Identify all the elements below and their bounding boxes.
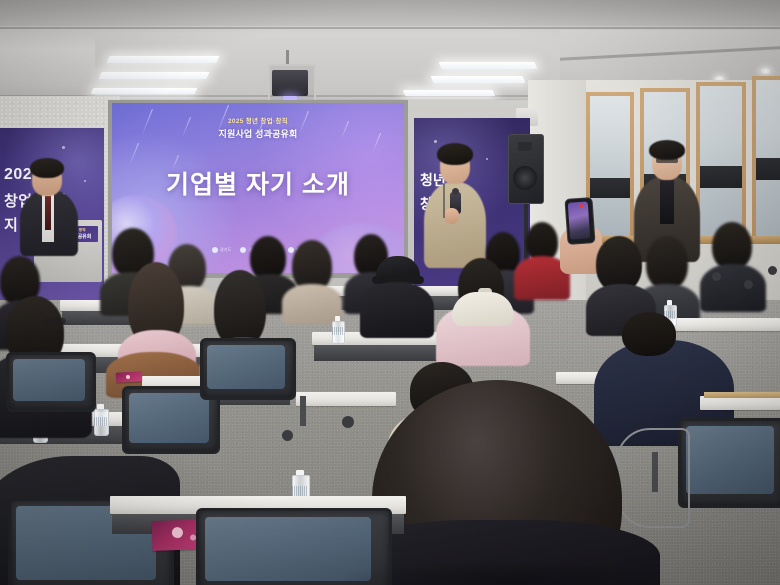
audience-head bbox=[646, 236, 688, 290]
table bbox=[296, 392, 396, 406]
mic-presenter-hand bbox=[444, 208, 459, 224]
ceiling-upper-band bbox=[0, 0, 780, 26]
slide-logo: 경기도 bbox=[212, 247, 231, 253]
puffer-hood bbox=[452, 292, 514, 326]
standing-attendee-inner-shirt bbox=[660, 180, 674, 224]
window-frame bbox=[696, 82, 746, 244]
chair-caster bbox=[744, 280, 753, 289]
bottle-label bbox=[332, 327, 343, 335]
logo-mark-icon bbox=[240, 247, 246, 253]
chair-back bbox=[678, 418, 780, 508]
audience-body bbox=[700, 264, 766, 312]
audience-head bbox=[622, 312, 676, 356]
chair-caster bbox=[342, 416, 354, 428]
chair-post bbox=[652, 452, 658, 492]
smartphone bbox=[564, 197, 595, 245]
ceiling-seam bbox=[0, 27, 780, 29]
chair-mesh bbox=[13, 359, 85, 401]
chair-back bbox=[6, 352, 96, 412]
chair-mesh bbox=[207, 345, 285, 389]
bottle-label bbox=[94, 417, 107, 427]
ceiling-panel-light bbox=[431, 76, 526, 83]
podium-speaker-tie bbox=[45, 196, 51, 230]
chair-post bbox=[300, 396, 306, 426]
ceiling-panel-light bbox=[98, 72, 209, 79]
water-bottle bbox=[94, 404, 107, 434]
slide-title: 기업별 자기 소개 bbox=[112, 165, 404, 201]
ceiling-panel-light bbox=[439, 62, 538, 69]
slide-logo-label: 경기도 bbox=[220, 247, 231, 253]
water-bottle bbox=[332, 316, 343, 342]
chair-mesh bbox=[129, 393, 209, 443]
ceiling-panel-light bbox=[403, 90, 495, 96]
logo-mark-icon bbox=[212, 247, 218, 253]
glasses-icon bbox=[656, 158, 678, 163]
podium-speaker-hair bbox=[30, 158, 64, 178]
window-signage bbox=[590, 178, 630, 198]
ceiling-projector bbox=[272, 70, 308, 96]
window-glass bbox=[590, 96, 630, 238]
slide-kicker-line1: 2025 청년 창업·창직 bbox=[112, 115, 404, 125]
glasses-icon bbox=[44, 318, 66, 324]
event-brochure bbox=[116, 371, 142, 382]
table bbox=[700, 396, 780, 410]
table-edge-wood bbox=[704, 392, 780, 398]
window-glass bbox=[700, 86, 742, 240]
window-signage bbox=[756, 158, 780, 180]
chair-caster bbox=[712, 272, 721, 281]
slide-kicker-line2: 지원사업 성과공유회 bbox=[112, 127, 404, 140]
pa-speaker-woofer bbox=[513, 166, 537, 190]
recessed-downlight bbox=[760, 68, 771, 74]
logo-mark-icon bbox=[288, 247, 294, 253]
chair-caster bbox=[282, 430, 293, 441]
slide-kicker: 2025 청년 창업·창직 지원사업 성과공유회 bbox=[112, 115, 404, 140]
banner-left-line3: 지 bbox=[4, 214, 18, 235]
chair-back bbox=[200, 338, 296, 400]
chair-mesh bbox=[686, 426, 774, 494]
conference-room-photo: 청년 창직 2025 창업·창직 지 2025 청년 창업·창직 지원사업 성과… bbox=[0, 0, 780, 585]
audience-head bbox=[214, 270, 266, 348]
pa-speaker-tweeter bbox=[518, 142, 532, 151]
chair-caster bbox=[768, 266, 777, 275]
audience-body bbox=[360, 282, 434, 338]
audience-head bbox=[712, 222, 752, 270]
ceiling-panel-light bbox=[106, 56, 219, 63]
window-signage bbox=[700, 166, 742, 188]
foreground-shadow bbox=[330, 560, 670, 585]
mic-presenter-hair bbox=[437, 143, 473, 165]
microphone-head-icon bbox=[452, 188, 459, 195]
ceiling-panel-light bbox=[91, 88, 198, 94]
standing-attendee-hair bbox=[649, 140, 685, 160]
window-frame bbox=[752, 76, 780, 244]
lanyard bbox=[443, 184, 445, 218]
